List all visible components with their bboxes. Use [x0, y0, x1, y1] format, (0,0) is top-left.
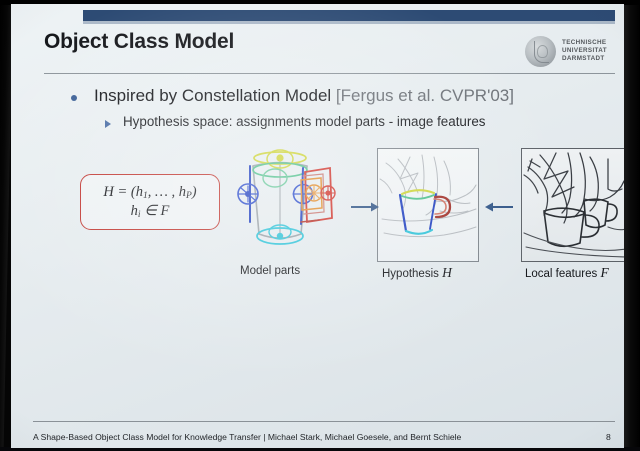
slide-canvas: Object Class Model TECHNISCHE UNIVERSITA…: [11, 4, 624, 448]
slide-top-accent-bar-shadow: [83, 21, 615, 24]
bullet-level2-text: Hypothesis space: assignments model part…: [123, 114, 485, 129]
local-features-figure: [521, 148, 624, 262]
projected-slide-photo: Object Class Model TECHNISCHE UNIVERSITA…: [0, 0, 640, 451]
hypothesis-formula-box: H = (h1, … , hP) hi ∈ F: [80, 174, 220, 230]
formula-line-1: H = (h1, … , hP): [103, 184, 196, 201]
university-seal-icon: [525, 36, 556, 67]
formula-line1-mid: , … , h: [148, 184, 186, 200]
university-logo-text: TECHNISCHE UNIVERSITAT DARMSTADT: [562, 39, 607, 64]
bullet-level1-citation: [Fergus et al. CVPR'03]: [336, 86, 514, 105]
title-divider: [44, 73, 615, 74]
page-number: 8: [606, 432, 611, 442]
slide-top-accent-bar: [83, 10, 615, 21]
caption-model-parts-text: Model parts: [240, 265, 300, 277]
arrow-right-icon: [351, 202, 379, 212]
caption-model-parts: Model parts: [240, 265, 300, 277]
bullet-item-level1: Inspired by Constellation Model [Fergus …: [71, 86, 514, 106]
model-parts-svg: [235, 146, 347, 256]
hypothesis-figure: [377, 148, 479, 262]
bullet-dot-icon: [71, 95, 77, 101]
bullet-level1-text: Inspired by Constellation Model [Fergus …: [94, 86, 514, 106]
formula-line1-prefix: H = (h: [103, 184, 143, 200]
formula-line2-prefix: h: [131, 203, 138, 219]
bullet-triangle-icon: [105, 120, 111, 128]
page-title: Object Class Model: [44, 30, 234, 54]
hypothesis-svg: [378, 149, 478, 261]
logo-line-1: TECHNISCHE: [562, 39, 607, 47]
caption-hypothesis: Hypothesis H: [382, 265, 452, 281]
formula-line-2: hi ∈ F: [131, 203, 170, 220]
footer-text: A Shape-Based Object Class Model for Kno…: [33, 432, 461, 442]
model-parts-figure: [235, 146, 347, 256]
caption-hypothesis-text: Hypothesis: [382, 268, 442, 280]
footer-divider: [33, 421, 615, 422]
caption-hypothesis-var: H: [442, 265, 452, 280]
arrow-left-icon: [483, 202, 513, 212]
bullet-item-level2: Hypothesis space: assignments model part…: [105, 114, 485, 129]
caption-local-features-text: Local features: [525, 268, 600, 280]
caption-local-features: Local features F: [525, 265, 609, 281]
logo-line-2: UNIVERSITAT: [562, 47, 607, 55]
formula-line2-suffix: ∈ F: [141, 203, 170, 219]
university-logo: TECHNISCHE UNIVERSITAT DARMSTADT: [525, 30, 617, 72]
seal-profile-inner-shape: [537, 45, 548, 58]
logo-line-3: DARMSTADT: [562, 55, 607, 63]
formula-line1-suffix: ): [192, 184, 197, 200]
screen-bezel-right: [624, 0, 640, 451]
bullet-level1-main: Inspired by Constellation Model: [94, 86, 336, 105]
local-features-svg: [522, 149, 624, 261]
caption-local-features-var: F: [600, 265, 608, 280]
